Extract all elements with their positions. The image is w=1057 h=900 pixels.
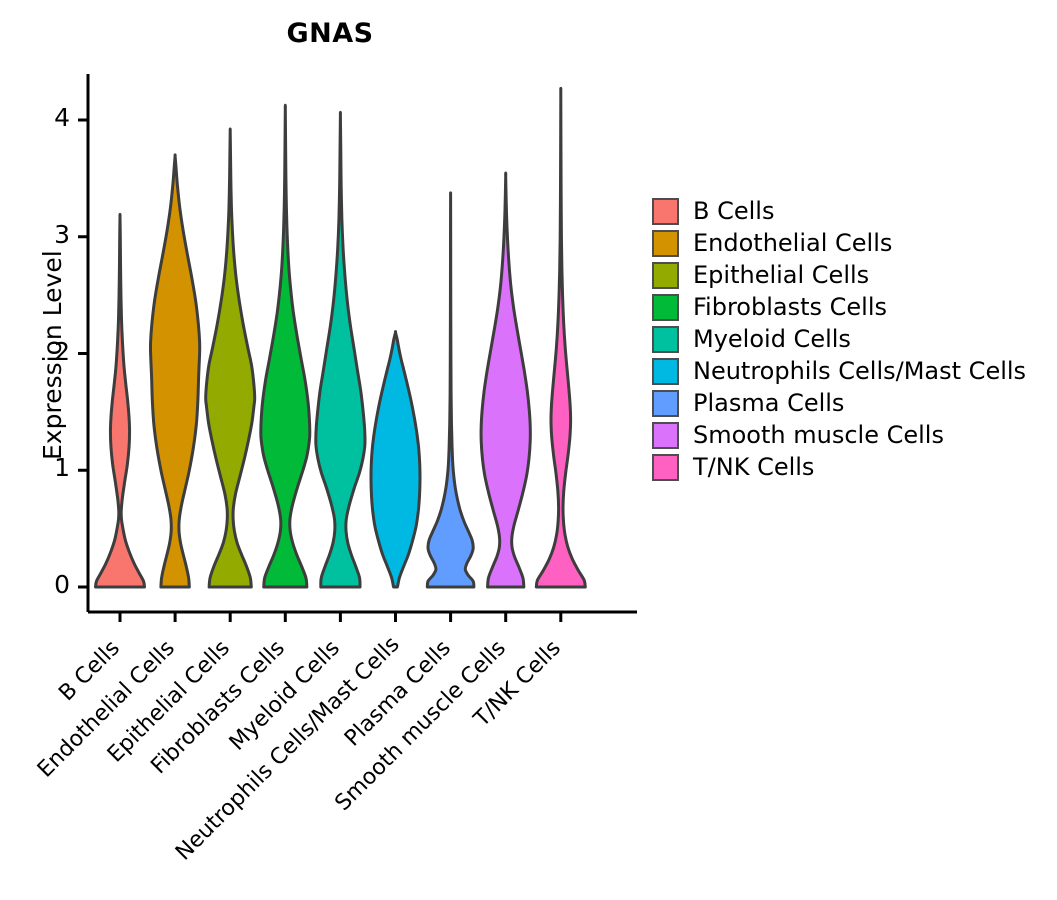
violin-neutrophils-cells-mast-cells[interactable] — [371, 332, 420, 587]
violin-fibroblasts-cells[interactable] — [261, 105, 310, 587]
legend-item[interactable]: Myeloid Cells — [652, 323, 1026, 355]
y-tick-label: 4 — [0, 103, 70, 132]
legend-swatch-icon — [652, 358, 679, 385]
y-tick-label: 2 — [0, 337, 70, 366]
violin-shape[interactable] — [427, 193, 474, 587]
legend-item[interactable]: Epithelial Cells — [652, 259, 1026, 291]
legend-swatch-icon — [652, 326, 679, 353]
legend-item[interactable]: Neutrophils Cells/Mast Cells — [652, 355, 1026, 387]
legend-item-label: Fibroblasts Cells — [693, 295, 887, 319]
legend-swatch-icon — [652, 422, 679, 449]
legend-item-label: Plasma Cells — [693, 391, 844, 415]
violin-shape[interactable] — [316, 112, 365, 587]
legend-swatch-icon — [652, 454, 679, 481]
legend-item[interactable]: Fibroblasts Cells — [652, 291, 1026, 323]
violin-shape[interactable] — [96, 214, 145, 587]
legend-item-label: T/NK Cells — [693, 455, 814, 479]
violin-myeloid-cells[interactable] — [316, 112, 365, 587]
y-tick-label: 1 — [0, 453, 70, 482]
violin-plasma-cells[interactable] — [427, 193, 474, 587]
violin-shape[interactable] — [150, 155, 199, 587]
legend-item-label: Myeloid Cells — [693, 327, 851, 351]
violin-shape[interactable] — [481, 173, 530, 587]
legend-item-label: Epithelial Cells — [693, 263, 869, 287]
legend-swatch-icon — [652, 262, 679, 289]
y-tick-label: 0 — [0, 570, 70, 599]
violin-shape[interactable] — [371, 332, 420, 587]
violin-shape[interactable] — [261, 105, 310, 587]
violin-shape[interactable] — [536, 88, 585, 587]
legend-item-label: Endothelial Cells — [693, 231, 892, 255]
legend: B CellsEndothelial CellsEpithelial Cells… — [652, 195, 1026, 483]
violin-endothelial-cells[interactable] — [150, 155, 199, 587]
y-tick-label: 3 — [0, 220, 70, 249]
legend-swatch-icon — [652, 198, 679, 225]
violin-t-nk-cells[interactable] — [536, 88, 585, 587]
violin-plot-figure: GNAS Expression Level B CellsEndothelial… — [0, 0, 1057, 900]
legend-item[interactable]: Endothelial Cells — [652, 227, 1026, 259]
legend-item[interactable]: B Cells — [652, 195, 1026, 227]
legend-swatch-icon — [652, 390, 679, 417]
legend-item[interactable]: T/NK Cells — [652, 451, 1026, 483]
legend-item[interactable]: Plasma Cells — [652, 387, 1026, 419]
legend-item[interactable]: Smooth muscle Cells — [652, 419, 1026, 451]
legend-item-label: Neutrophils Cells/Mast Cells — [693, 359, 1026, 383]
violin-epithelial-cells[interactable] — [206, 129, 255, 587]
legend-swatch-icon — [652, 230, 679, 257]
legend-item-label: B Cells — [693, 199, 774, 223]
violin-smooth-muscle-cells[interactable] — [481, 173, 530, 587]
legend-item-label: Smooth muscle Cells — [693, 423, 944, 447]
violin-b-cells[interactable] — [96, 214, 145, 587]
legend-swatch-icon — [652, 294, 679, 321]
violin-shape[interactable] — [206, 129, 255, 587]
